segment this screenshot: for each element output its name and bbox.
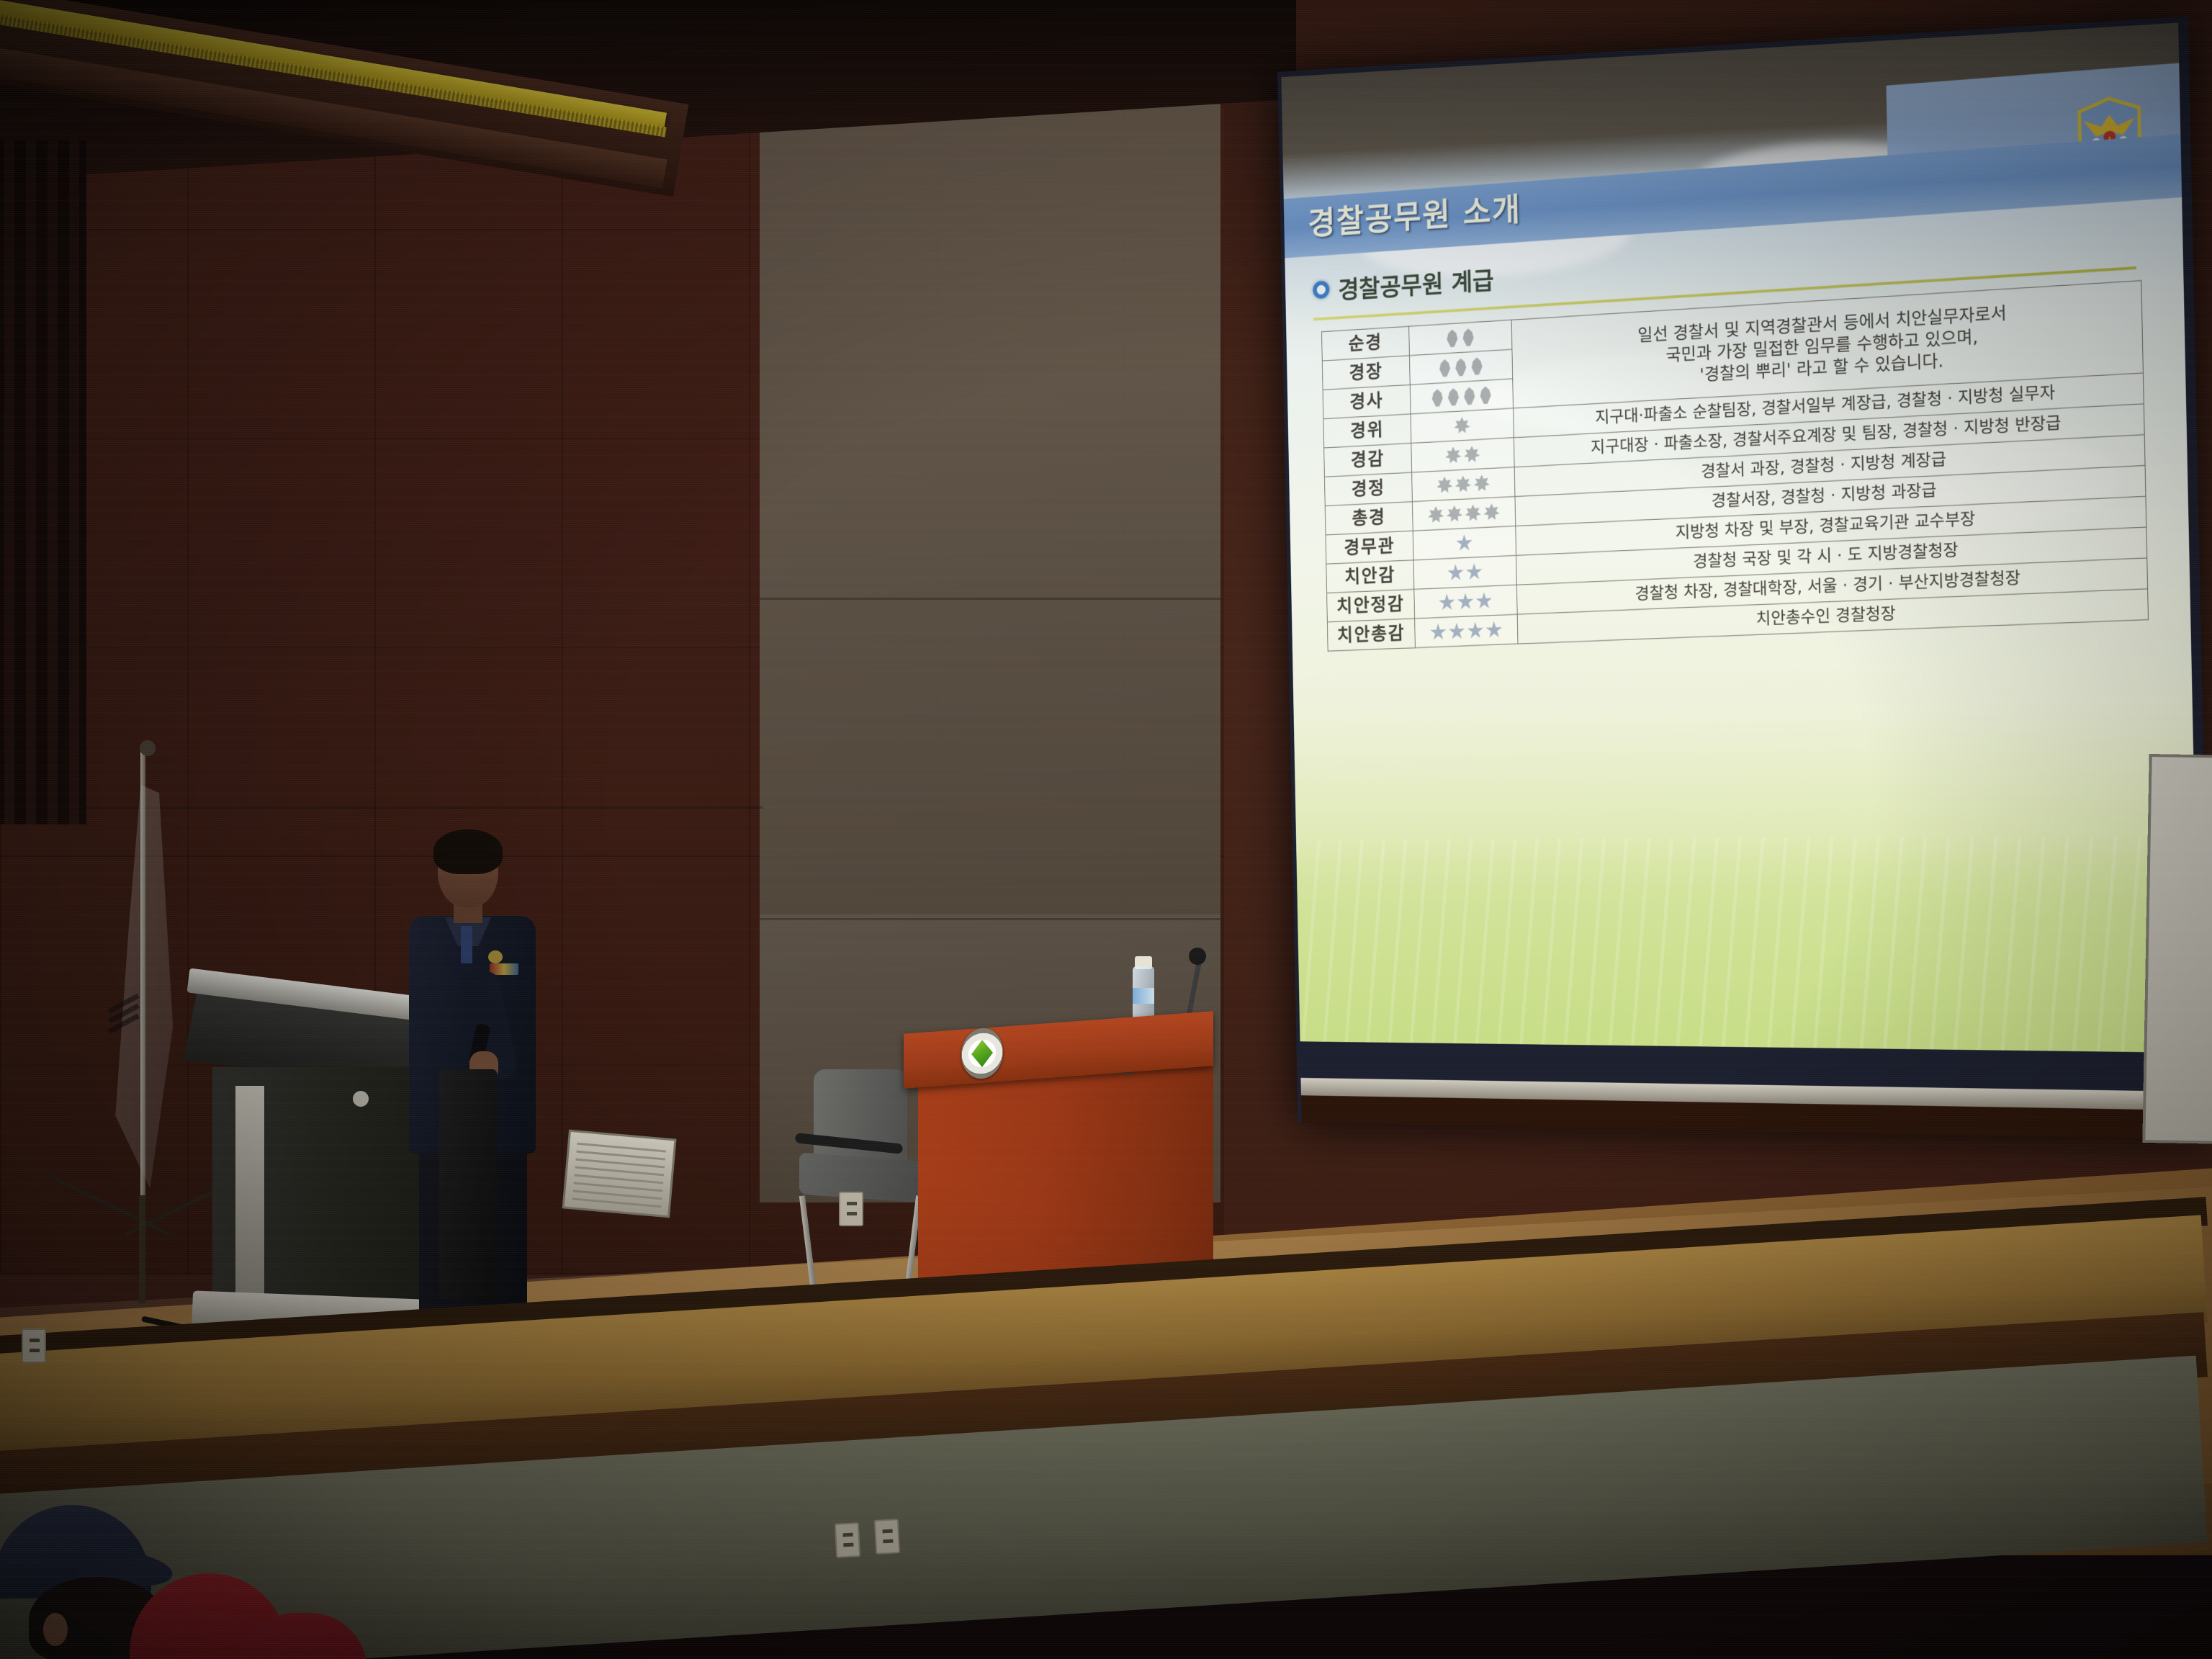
bud-insignia-icon: [1438, 359, 1452, 377]
flower-insignia-icon: [1445, 446, 1462, 465]
rank-insignia-icon: [1419, 588, 1514, 616]
flower-insignia-icon: [1427, 506, 1444, 525]
flower-insignia-icon: [1455, 475, 1472, 494]
rank-insignia-icon: [1419, 618, 1514, 644]
audience-ear: [43, 1613, 68, 1646]
wall-outlet: [839, 1192, 863, 1226]
rank-name-cell: 경감: [1324, 444, 1412, 477]
slide-section-heading: 경찰공무원 계급: [1313, 261, 1494, 307]
rank-insignia-cell: [1412, 467, 1515, 502]
school-emblem-leaf: [971, 1039, 993, 1068]
whiteboard: [2142, 754, 2212, 1144]
bud-insignia-icon: [1446, 387, 1460, 406]
rank-name-cell: 치안총감: [1327, 619, 1415, 651]
rank-name-cell: 치안감: [1326, 560, 1414, 593]
rank-name-cell: 경무관: [1326, 531, 1413, 564]
bud-insignia-icon: [1462, 387, 1477, 405]
star-insignia-icon: [1439, 593, 1456, 612]
bud-insignia-icon: [1430, 389, 1444, 408]
rank-insignia-cell: [1413, 526, 1516, 560]
rank-name-cell: 경장: [1322, 356, 1410, 390]
bud-insignia-icon: [1470, 357, 1484, 376]
star-insignia-icon: [1430, 623, 1447, 642]
bud-insignia-icon: [1461, 328, 1475, 347]
rank-insignia-icon: [1418, 559, 1513, 586]
wall-outlet: [835, 1522, 860, 1558]
rank-insignia-icon: [1413, 353, 1509, 382]
grass-field-background: [1296, 837, 2200, 1053]
flower-insignia-icon: [1465, 504, 1482, 523]
flower-insignia-icon: [1463, 445, 1480, 464]
projection-screen: 경찰공무원 소개 경찰공무원 계급 순경일선 경찰서 및 지역경찰관서 등에서 …: [1277, 17, 2211, 1140]
rank-name-cell: 총경: [1325, 502, 1413, 535]
star-insignia-icon: [1467, 621, 1484, 640]
rank-insignia-icon: [1417, 529, 1512, 557]
auditorium-scene: 경찰공무원 소개 경찰공무원 계급 순경일선 경찰서 및 지역경찰관서 등에서 …: [0, 0, 2212, 1659]
lectern-knob: [353, 1091, 369, 1107]
star-insignia-icon: [1448, 622, 1465, 641]
rank-name-cell: 경정: [1324, 472, 1412, 506]
heater-vents: [572, 1140, 667, 1208]
star-insignia-icon: [1447, 564, 1465, 583]
wall-heater: [562, 1130, 676, 1218]
equipment-case: [439, 1069, 497, 1300]
rank-insignia-icon: [1413, 323, 1508, 352]
rank-insignia-cell: [1412, 497, 1515, 531]
rank-insignia-cell: [1414, 585, 1517, 619]
wall-seam: [760, 598, 1220, 600]
rank-insignia-icon: [1415, 412, 1510, 440]
police-rank-table: 순경일선 경찰서 및 지역경찰관서 등에서 치안실무자로서국민과 가장 밀접한 …: [1321, 280, 2149, 652]
speaker-necktie: [461, 926, 472, 963]
flower-insignia-icon: [1473, 475, 1491, 493]
water-bottle-label: [1133, 988, 1154, 1004]
rank-insignia-cell: [1413, 555, 1516, 589]
star-insignia-icon: [1456, 534, 1473, 552]
stage-curtain-left: [0, 140, 86, 824]
rank-name-cell: 치안정감: [1327, 589, 1415, 622]
presentation-slide: 경찰공무원 소개 경찰공무원 계급 순경일선 경찰서 및 지역경찰관서 등에서 …: [1281, 23, 2199, 1053]
flower-insignia-icon: [1483, 503, 1501, 522]
flag-trigram: [107, 1001, 140, 1041]
wall-outlet: [22, 1328, 46, 1363]
rank-insignia-icon: [1414, 382, 1509, 411]
flower-insignia-icon: [1454, 416, 1471, 435]
speaker-uniform-badge: [488, 950, 503, 963]
flag-tripod-center: [139, 1195, 145, 1303]
lectern-accent-strip: [235, 1086, 264, 1295]
bud-insignia-icon: [1454, 358, 1468, 377]
flower-insignia-icon: [1436, 476, 1453, 495]
star-insignia-icon: [1457, 593, 1474, 611]
rank-name-cell: 경사: [1323, 385, 1411, 418]
rank-name-cell: 경위: [1323, 414, 1411, 448]
section-heading-text: 경찰공무원 계급: [1338, 261, 1494, 306]
gooseneck-microphone-icon: [1189, 948, 1206, 965]
bud-insignia-icon: [1478, 386, 1493, 405]
rank-insignia-icon: [1416, 441, 1511, 469]
star-insignia-icon: [1485, 621, 1503, 639]
flag-pole-finial: [140, 740, 156, 756]
speaker-hair: [433, 829, 503, 874]
bullet-ring-icon: [1313, 281, 1329, 300]
star-insignia-icon: [1475, 592, 1493, 611]
wall-outlet: [874, 1519, 900, 1555]
wall-seam: [760, 918, 1220, 920]
rank-insignia-cell: [1415, 614, 1518, 647]
bud-insignia-icon: [1445, 329, 1460, 348]
rank-insignia-icon: [1416, 500, 1511, 528]
star-insignia-icon: [1466, 563, 1483, 582]
rank-insignia-icon: [1416, 470, 1511, 498]
flower-insignia-icon: [1446, 505, 1463, 523]
